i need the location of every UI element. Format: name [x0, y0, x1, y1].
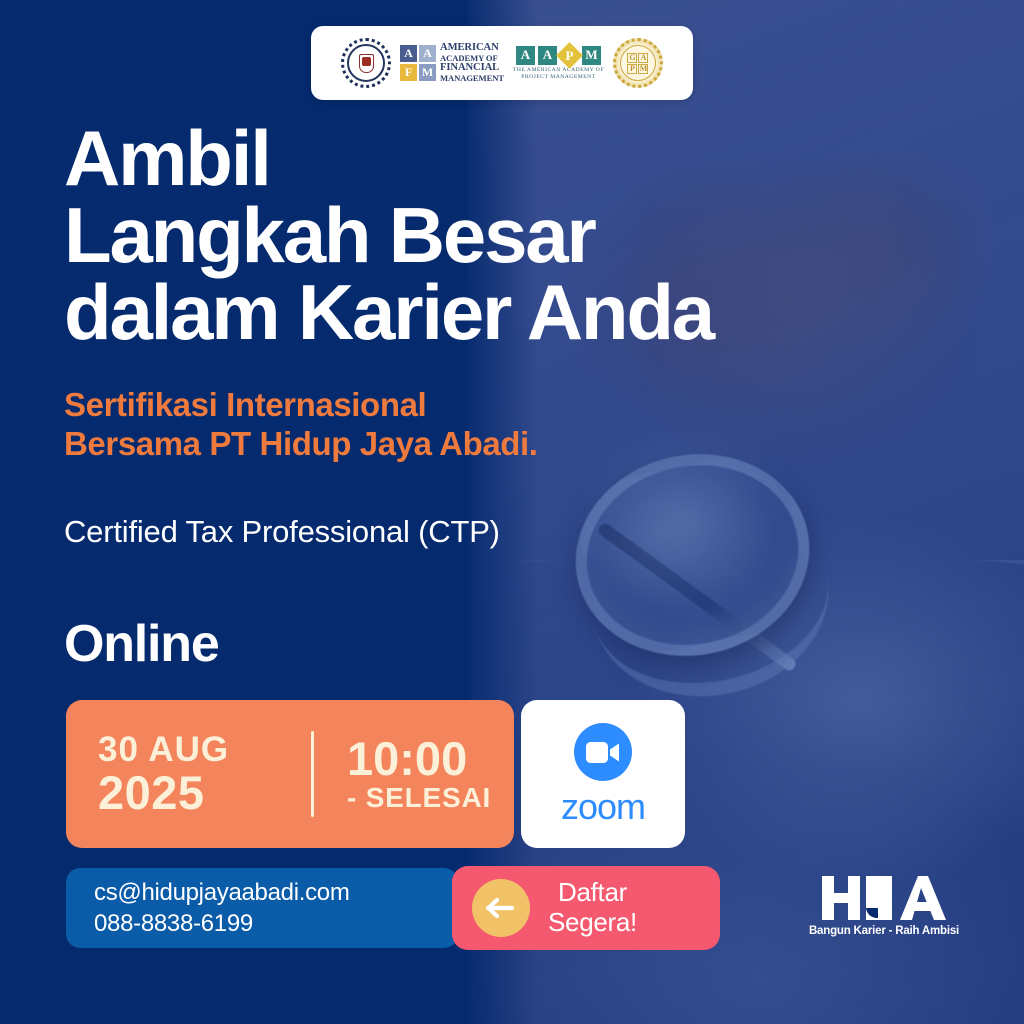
schedule-end-label: - SELESAI — [347, 783, 491, 814]
aapm-subtitle-line-2: PROJECT MANAGEMENT — [513, 74, 604, 81]
aafm-letter-m: M — [419, 64, 436, 81]
schedule-date: 30 AUG 2025 — [66, 731, 311, 816]
aapm-letter-m: M — [582, 46, 601, 65]
headline-line-2: Langkah Besar — [64, 197, 884, 274]
brand-tagline: Bangun Karier - Raih Ambisi — [809, 925, 959, 937]
aafm-wordmark: AMERICAN ACADEMY OF FINANCIAL MANAGEMENT — [440, 43, 504, 83]
register-cta-button[interactable]: Daftar Segera! — [452, 866, 720, 950]
promo-poster: A A F M AMERICAN ACADEMY OF FINANCIAL MA… — [0, 0, 1024, 1024]
gafm-letter-p: P — [627, 64, 637, 74]
arrow-left-icon — [472, 879, 530, 937]
schedule-day-month: 30 AUG — [98, 731, 311, 768]
aapm-subtitle-line-1: THE AMERICAN ACADEMY OF — [513, 67, 604, 74]
video-camera-icon — [574, 723, 632, 781]
aapm-letter-a1: A — [516, 46, 535, 65]
platform-card-zoom: zoom — [521, 700, 685, 848]
aafm-letter-a2: A — [419, 45, 436, 62]
schedule-start-time: 10:00 — [347, 735, 491, 783]
eagle-crest-icon — [359, 54, 374, 73]
zoom-wordmark: zoom — [561, 789, 645, 825]
aapm-subtitle: THE AMERICAN ACADEMY OF PROJECT MANAGEME… — [513, 67, 604, 81]
subheadline-line-1: Sertifikasi Internasional — [64, 386, 538, 425]
hja-monogram-icon — [822, 874, 946, 922]
aafm-letter-a1: A — [400, 45, 417, 62]
aafm-logo: A A F M AMERICAN ACADEMY OF FINANCIAL MA… — [400, 43, 504, 83]
contact-bar: cs@hidupjayaabadi.com 088-8838-6199 — [66, 868, 458, 948]
register-cta-label: Daftar Segera! — [548, 878, 637, 937]
brand-logo: Bangun Karier - Raih Ambisi — [816, 874, 952, 937]
schedule-card: 30 AUG 2025 10:00 - SELESAI — [66, 700, 514, 848]
accreditation-logo-bar: A A F M AMERICAN ACADEMY OF FINANCIAL MA… — [311, 26, 693, 100]
aafm-letter-grid: A A F M — [400, 45, 436, 81]
aafm-line-4: MANAGEMENT — [440, 74, 504, 83]
aapm-logo: A A P M THE AMERICAN ACADEMY OF PROJECT … — [513, 46, 604, 81]
subheadline-line-2: Bersama PT Hidup Jaya Abadi. — [64, 425, 538, 464]
gafm-letter-g: G — [627, 53, 637, 63]
aapm-letter-p: P — [556, 42, 583, 69]
aapm-letter-row: A A P M — [516, 46, 601, 65]
schedule-year: 2025 — [98, 769, 311, 817]
headline-line-3: dalam Karier Anda — [64, 274, 884, 351]
contact-phone[interactable]: 088-8838-6199 — [94, 908, 458, 939]
gafm-letter-a: A — [638, 53, 648, 63]
iaa-seal-icon — [341, 38, 391, 88]
certification-name: Certified Tax Professional (CTP) — [64, 514, 500, 550]
headline: Ambil Langkah Besar dalam Karier Anda — [64, 120, 884, 352]
aafm-letter-f: F — [400, 64, 417, 81]
schedule-time: 10:00 - SELESAI — [314, 735, 491, 814]
aapm-letter-a2: A — [538, 46, 557, 65]
gafm-letter-m: M — [638, 64, 648, 74]
subheadline: Sertifikasi Internasional Bersama PT Hid… — [64, 386, 538, 463]
headline-line-1: Ambil — [64, 120, 884, 197]
register-cta-line-2: Segera! — [548, 908, 637, 938]
gafm-gold-seal-icon: G A P M — [613, 38, 663, 88]
contact-email[interactable]: cs@hidupjayaabadi.com — [94, 877, 458, 908]
delivery-mode-label: Online — [64, 614, 219, 674]
gafm-letter-grid: G A P M — [627, 53, 648, 74]
register-cta-line-1: Daftar — [548, 878, 637, 908]
